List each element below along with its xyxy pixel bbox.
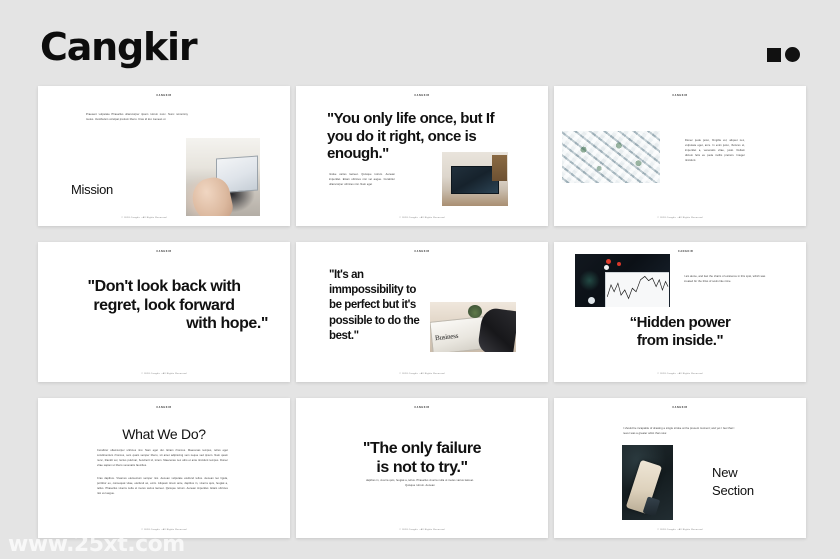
slide-thumbnail-money[interactable]: CANGKIR Donec pede justo, fringilla vel,… — [554, 86, 806, 226]
slide-quote: "It's an immpossibility to be perfect bu… — [329, 268, 429, 344]
quote-line-3: with hope." — [60, 315, 268, 334]
line-chart-panel — [605, 272, 669, 307]
desk-monitor-workstation-photo — [442, 152, 508, 206]
title-line-2: Section — [712, 482, 754, 500]
slide-body-text: Praesent vulputate Phasellus ullamcorper… — [86, 112, 188, 122]
watermark: www.25xt.com — [8, 532, 185, 557]
slide-title: What We Do? — [38, 426, 290, 442]
slide-header-label: CANGKIR — [296, 94, 548, 97]
slide-quote: "The only failure is not to try." — [296, 440, 548, 477]
slide-footer: © 2018 Cangkir - All Rights Reserved — [296, 373, 548, 375]
slide-footer: © 2018 Cangkir - All Rights Reserved — [554, 529, 806, 531]
slide-thumbnail-quote-only-failure[interactable]: CANGKIR "The only failure is not to try.… — [296, 398, 548, 538]
slide-grid: CANGKIR Praesent vulputate Phasellus ull… — [38, 86, 804, 538]
page-title: Cangkir — [40, 25, 196, 69]
title-line-1: New — [712, 464, 754, 482]
slide-footer: © 2018 Cangkir - All Rights Reserved — [296, 529, 548, 531]
slide-quote: "Don't look back with regret, look forwa… — [60, 278, 268, 334]
slide-quote: “Hidden power from inside." — [554, 314, 806, 349]
plant-decoration — [468, 305, 482, 318]
slide-paragraph-1: Curabitur ullamcorper ultricies nisi. Na… — [97, 448, 228, 468]
slide-header-label: CANGKIR — [38, 94, 290, 97]
slide-thumbnail-quote-dont-look-back[interactable]: CANGKIR "Don't look back with regret, lo… — [38, 242, 290, 382]
slide-body-text: Donec pede justo, fringilla vel, aliquet… — [685, 138, 745, 163]
square-icon — [767, 48, 781, 62]
slide-thumbnail-hidden-power[interactable]: CANGKIR I am alone, and feel the charm o… — [554, 242, 806, 382]
quote-line-2: is not to try." — [296, 459, 548, 478]
quote-line-1: “Hidden power — [554, 314, 806, 332]
quote-line-2: regret, look forward — [60, 297, 268, 316]
slide-thumbnail-mission[interactable]: CANGKIR Praesent vulputate Phasellus ull… — [38, 86, 290, 226]
quote-line-2: from inside." — [554, 332, 806, 350]
hands-typing-on-laptop-photo — [186, 138, 260, 216]
line-chart-svg — [606, 273, 669, 307]
screen-glow — [579, 270, 600, 291]
red-dot-icon — [617, 262, 621, 266]
slide-title: New Section — [712, 464, 754, 499]
slide-caption: dapibus in, viverra quis, feugiat a, tel… — [362, 478, 478, 488]
slide-thumbnail-quote-impossibility[interactable]: CANGKIR "It's an immpossibility to be pe… — [296, 242, 548, 382]
slide-body-text: Imdue varius laoreet. Quisque rutrum. Ae… — [329, 172, 395, 187]
slide-footer: © 2018 Cangkir - All Rights Reserved — [38, 529, 290, 531]
slide-body-text: I am alone, and feel the charm of existe… — [684, 274, 772, 284]
slide-thumbnail-new-section[interactable]: CANGKIR I should be incapable of drawing… — [554, 398, 806, 538]
business-newspaper-in-hand-photo: Business — [430, 302, 516, 352]
slide-footer: © 2018 Cangkir - All Rights Reserved — [554, 373, 806, 375]
phone-on-dark-fabric-photo — [622, 445, 673, 520]
slide-body-text: I should be incapable of drawing a singl… — [623, 426, 737, 436]
slide-footer: © 2018 Cangkir - All Rights Reserved — [296, 217, 548, 219]
slide-thumbnail-what-we-do[interactable]: CANGKIR What We Do? Curabitur ullamcorpe… — [38, 398, 290, 538]
slide-header-label: CANGKIR — [296, 250, 548, 253]
slide-header-label: CANGKIR — [296, 406, 548, 409]
slide-footer: © 2018 Cangkir - All Rights Reserved — [554, 217, 806, 219]
white-dot-icon — [604, 265, 609, 270]
white-dot-icon — [588, 297, 595, 304]
circle-icon — [785, 47, 800, 62]
brand-logo — [767, 47, 800, 62]
slide-thumbnail-quote-life-once[interactable]: CANGKIR "You only life once, but If you … — [296, 86, 548, 226]
slide-header-label: CANGKIR — [678, 250, 806, 253]
slide-header-label: CANGKIR — [554, 94, 806, 97]
slide-paragraph-2: Cras dapibus. Vivamus elementum semper n… — [97, 476, 228, 496]
slide-title: Mission — [71, 182, 113, 197]
quote-line-1: "The only failure — [296, 440, 548, 459]
page-header: Cangkir — [0, 0, 840, 86]
newspaper-masthead: Business — [435, 332, 459, 342]
quote-line-1: "Don't look back with — [60, 278, 268, 297]
scattered-dollar-bills-photo — [562, 131, 660, 183]
slide-header-label: CANGKIR — [554, 406, 806, 409]
dark-trading-chart-screen-photo — [575, 254, 670, 307]
slide-footer: © 2018 Cangkir - All Rights Reserved — [38, 373, 290, 375]
red-dot-icon — [606, 259, 611, 264]
slide-header-label: CANGKIR — [38, 250, 290, 253]
slide-footer: © 2018 Cangkir - All Rights Reserved — [38, 217, 290, 219]
slide-header-label: CANGKIR — [38, 406, 290, 409]
